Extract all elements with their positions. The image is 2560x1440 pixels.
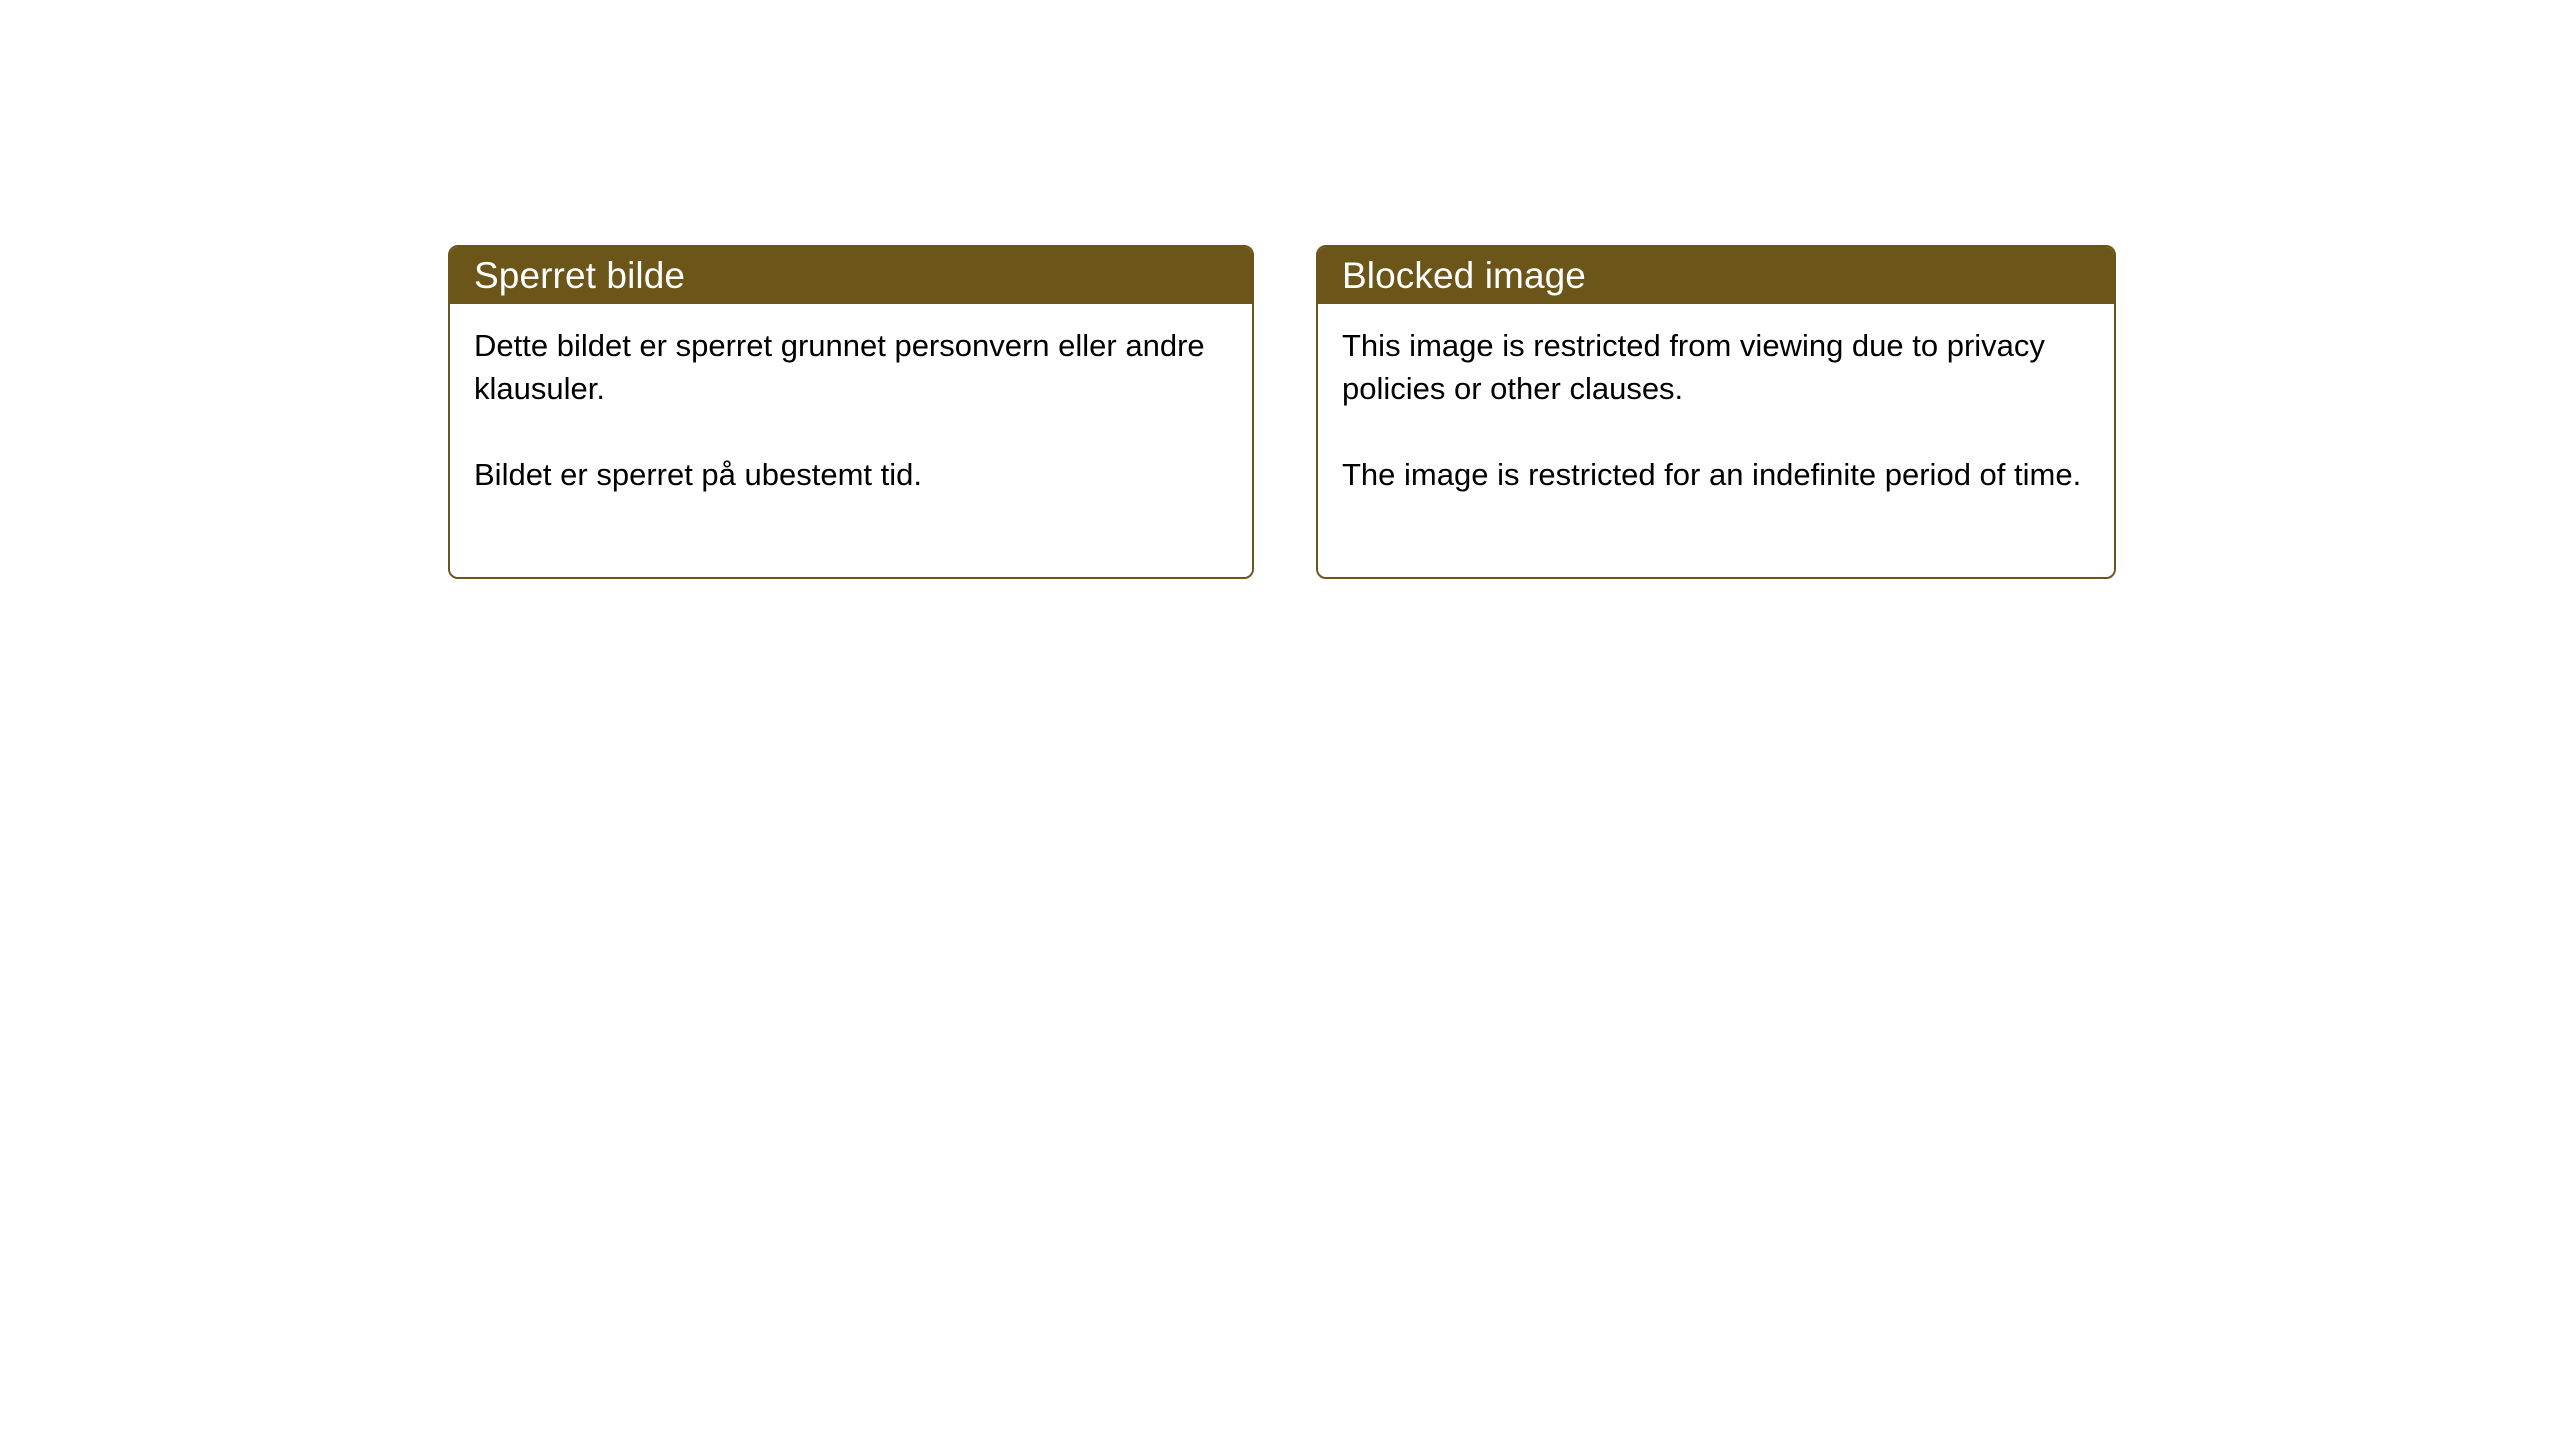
card-paragraph-english-2: The image is restricted for an indefinit… xyxy=(1342,453,2090,496)
card-title-english: Blocked image xyxy=(1342,257,1586,294)
blocked-image-notice-area: Sperret bilde Dette bildet er sperret gr… xyxy=(448,245,2116,579)
card-body-norwegian: Dette bildet er sperret grunnet personve… xyxy=(450,304,1252,577)
blocked-image-card-english: Blocked image This image is restricted f… xyxy=(1316,245,2116,579)
card-body-english: This image is restricted from viewing du… xyxy=(1318,304,2114,577)
card-title-norwegian: Sperret bilde xyxy=(474,257,685,294)
blocked-image-card-norwegian: Sperret bilde Dette bildet er sperret gr… xyxy=(448,245,1254,579)
card-header-english: Blocked image xyxy=(1318,247,2114,304)
card-paragraph-norwegian-2: Bildet er sperret på ubestemt tid. xyxy=(474,453,1228,496)
card-paragraph-norwegian-1: Dette bildet er sperret grunnet personve… xyxy=(474,324,1228,410)
card-paragraph-english-1: This image is restricted from viewing du… xyxy=(1342,324,2090,410)
card-header-norwegian: Sperret bilde xyxy=(450,247,1252,304)
